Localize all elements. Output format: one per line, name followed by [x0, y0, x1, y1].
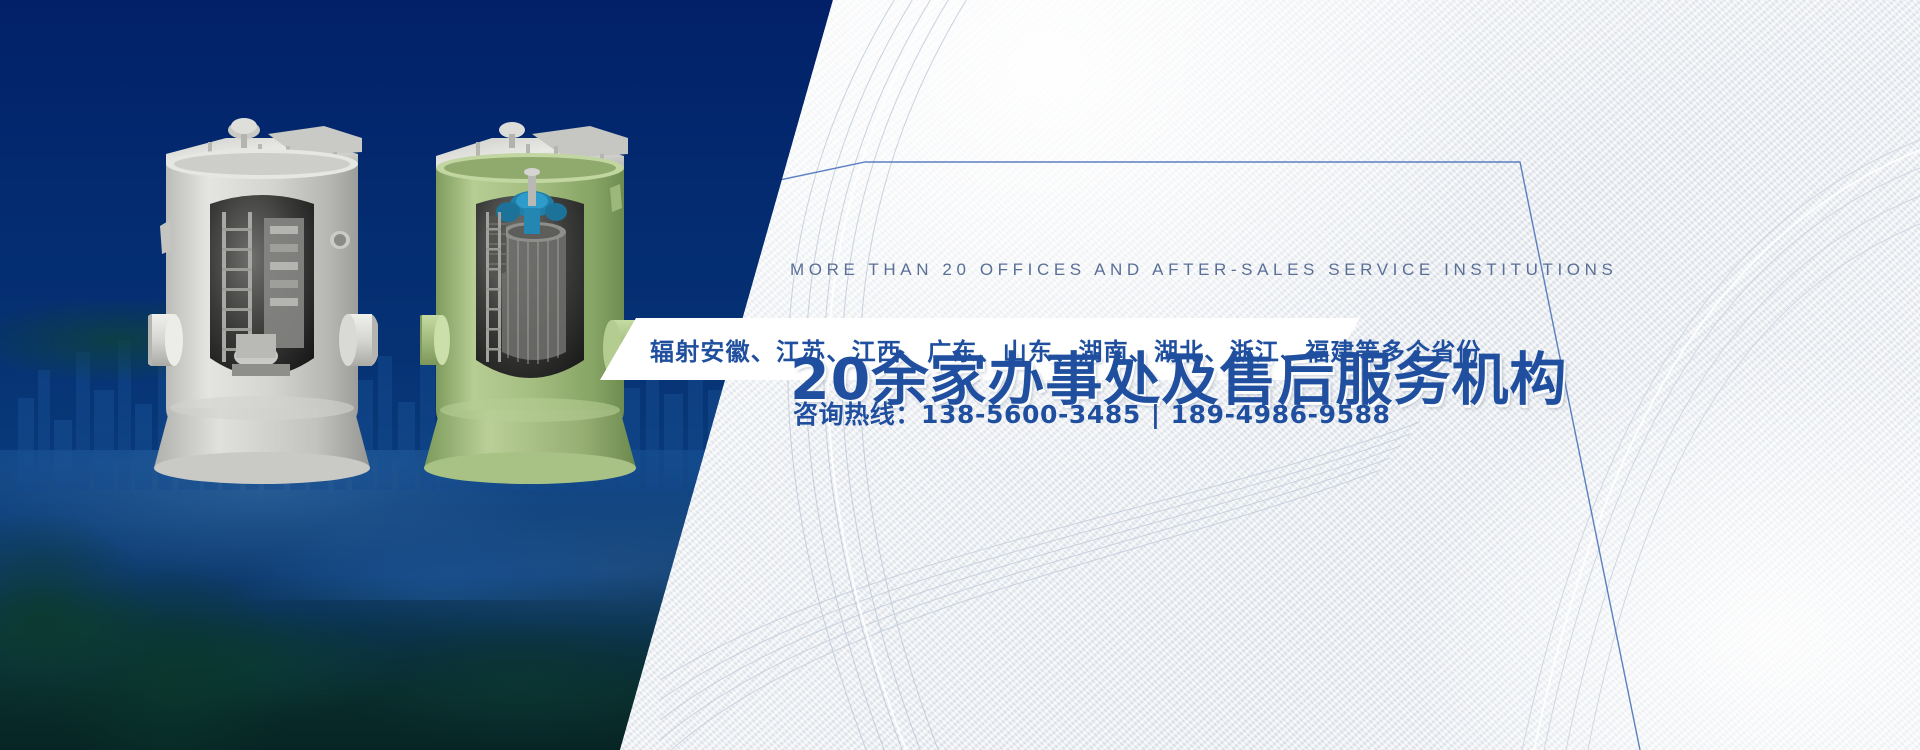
hotline-row: 咨询热线：138-5600-3485|189-4986-9588 [793, 395, 1391, 431]
hotline-separator: | [1141, 400, 1171, 429]
coverage-provinces-text: 辐射安徽、江苏、江西、广东、山东、湖南、湖北、浙江、福建等多个省份 [650, 332, 1482, 367]
hotline-label: 咨询热线： [793, 400, 921, 429]
text-content: MORE THAN 20 OFFICES AND AFTER-SALES SER… [0, 0, 1920, 750]
promo-banner: MORE THAN 20 OFFICES AND AFTER-SALES SER… [0, 0, 1920, 750]
eyebrow-english-text: MORE THAN 20 OFFICES AND AFTER-SALES SER… [790, 260, 1617, 280]
hotline-secondary-number[interactable]: 189-4986-9588 [1171, 400, 1391, 429]
hotline-primary-number[interactable]: 138-5600-3485 [921, 400, 1141, 429]
